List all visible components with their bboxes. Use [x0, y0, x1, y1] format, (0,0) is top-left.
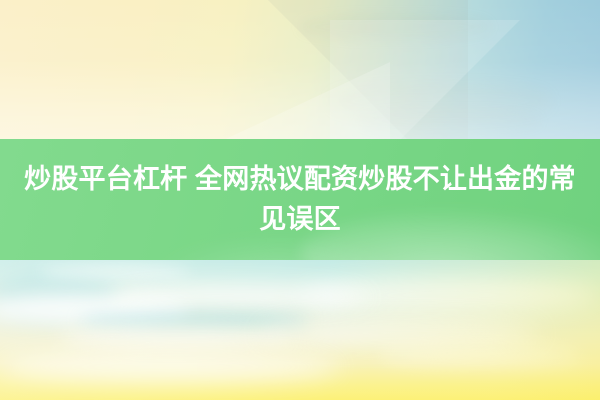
- bottom-sky-panel: [0, 260, 600, 400]
- top-panel-light-veil: [0, 0, 600, 140]
- bottom-panel-horizontal-shade: [0, 260, 600, 400]
- page-title: 炒股平台杠杆 全网热议配资炒股不让出金的常见误区: [18, 159, 582, 239]
- article-banner-image: 炒股平台杠杆 全网热议配资炒股不让出金的常见误区: [0, 0, 600, 400]
- top-gradient-panel: [0, 0, 600, 140]
- title-band: 炒股平台杠杆 全网热议配资炒股不让出金的常见误区: [0, 139, 600, 260]
